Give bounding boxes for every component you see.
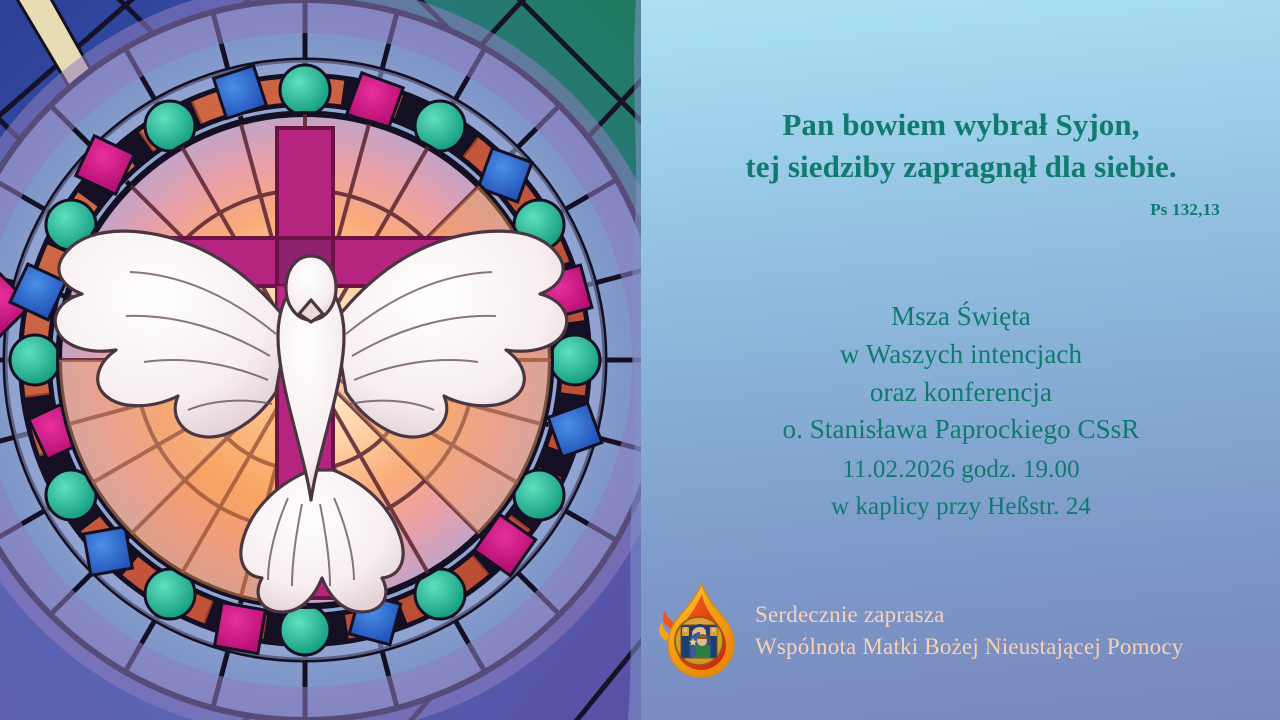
event-datetime: 11.02.2026 godz. 19.00 xyxy=(645,452,1277,489)
event-venue: w kaplicy przy Heßstr. 24 xyxy=(645,489,1277,526)
footer-line-1: Serdecznie zaprasza xyxy=(755,599,1184,631)
footer-invitation: Serdecznie zaprasza Wspólnota Matki Boże… xyxy=(655,581,1275,681)
footer-text: Serdecznie zaprasza Wspólnota Matki Boże… xyxy=(755,599,1184,662)
verse-line-2: tej siedziby zapragnął dla siebie. xyxy=(645,146,1277,188)
mass-line-2: w Waszych intencjach xyxy=(645,336,1277,374)
footer-line-2: Wspólnota Matki Bożej Nieustającej Pomoc… xyxy=(755,631,1184,663)
mass-details: Msza Święta w Waszych intencjach oraz ko… xyxy=(645,298,1277,449)
scripture-verse: Pan bowiem wybrał Syjon, tej siedziby za… xyxy=(645,104,1277,187)
stained-glass-window-image xyxy=(0,0,641,720)
mass-line-1: Msza Święta xyxy=(645,298,1277,336)
flame-icon xyxy=(655,581,745,681)
mass-line-3: oraz konferencja xyxy=(645,374,1277,412)
mass-line-4: o. Stanisława Paprockiego CSsR xyxy=(645,411,1277,449)
verse-reference: Ps 132,13 xyxy=(645,200,1220,220)
date-and-venue: 11.02.2026 godz. 19.00 w kaplicy przy He… xyxy=(645,452,1277,526)
verse-line-1: Pan bowiem wybrał Syjon, xyxy=(645,104,1277,146)
poster-canvas: Pan bowiem wybrał Syjon, tej siedziby za… xyxy=(0,0,1280,720)
